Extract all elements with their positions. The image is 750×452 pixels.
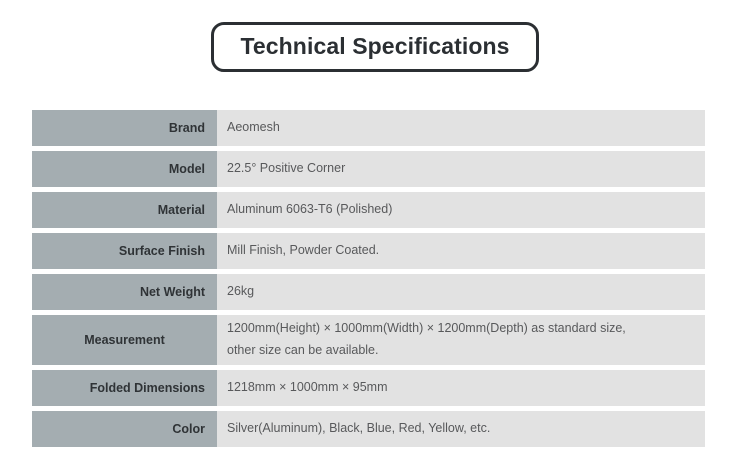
spec-value-color: Silver(Aluminum), Black, Blue, Red, Yell… — [217, 411, 705, 447]
table-row: Color Silver(Aluminum), Black, Blue, Red… — [32, 411, 705, 447]
spec-value-surface-finish: Mill Finish, Powder Coated. — [217, 233, 705, 269]
spec-label-net-weight: Net Weight — [32, 274, 217, 310]
table-row: Model 22.5° Positive Corner — [32, 151, 705, 187]
spec-value-brand: Aeomesh — [217, 110, 705, 146]
spec-value-folded-dimensions: 1218mm × 1000mm × 95mm — [217, 370, 705, 406]
table-row: Measurement 1200mm(Height) × 1000mm(Widt… — [32, 315, 705, 365]
page-title-box: Technical Specifications — [211, 22, 538, 72]
table-row: Material Aluminum 6063-T6 (Polished) — [32, 192, 705, 228]
spec-value-measurement-line-1: 1200mm(Height) × 1000mm(Width) × 1200mm(… — [227, 318, 695, 340]
spec-value-model: 22.5° Positive Corner — [217, 151, 705, 187]
spec-label-surface-finish: Surface Finish — [32, 233, 217, 269]
spec-label-measurement: Measurement — [32, 315, 217, 365]
spec-label-color: Color — [32, 411, 217, 447]
page-title: Technical Specifications — [240, 33, 509, 59]
spec-value-net-weight: 26kg — [217, 274, 705, 310]
table-row: Brand Aeomesh — [32, 110, 705, 146]
specifications-table-body: Brand Aeomesh Model 22.5° Positive Corne… — [32, 110, 705, 447]
spec-value-measurement-line-2: other size can be available. — [227, 340, 695, 362]
table-row: Surface Finish Mill Finish, Powder Coate… — [32, 233, 705, 269]
specifications-table: Brand Aeomesh Model 22.5° Positive Corne… — [32, 105, 705, 452]
spec-value-material: Aluminum 6063-T6 (Polished) — [217, 192, 705, 228]
spec-label-material: Material — [32, 192, 217, 228]
spec-label-brand: Brand — [32, 110, 217, 146]
page-title-container: Technical Specifications — [0, 22, 750, 72]
spec-value-measurement: 1200mm(Height) × 1000mm(Width) × 1200mm(… — [217, 315, 705, 365]
table-row: Net Weight 26kg — [32, 274, 705, 310]
table-row: Folded Dimensions 1218mm × 1000mm × 95mm — [32, 370, 705, 406]
spec-label-folded-dimensions: Folded Dimensions — [32, 370, 217, 406]
spec-sheet-page: Technical Specifications Brand Aeomesh M… — [0, 0, 750, 436]
spec-label-model: Model — [32, 151, 217, 187]
